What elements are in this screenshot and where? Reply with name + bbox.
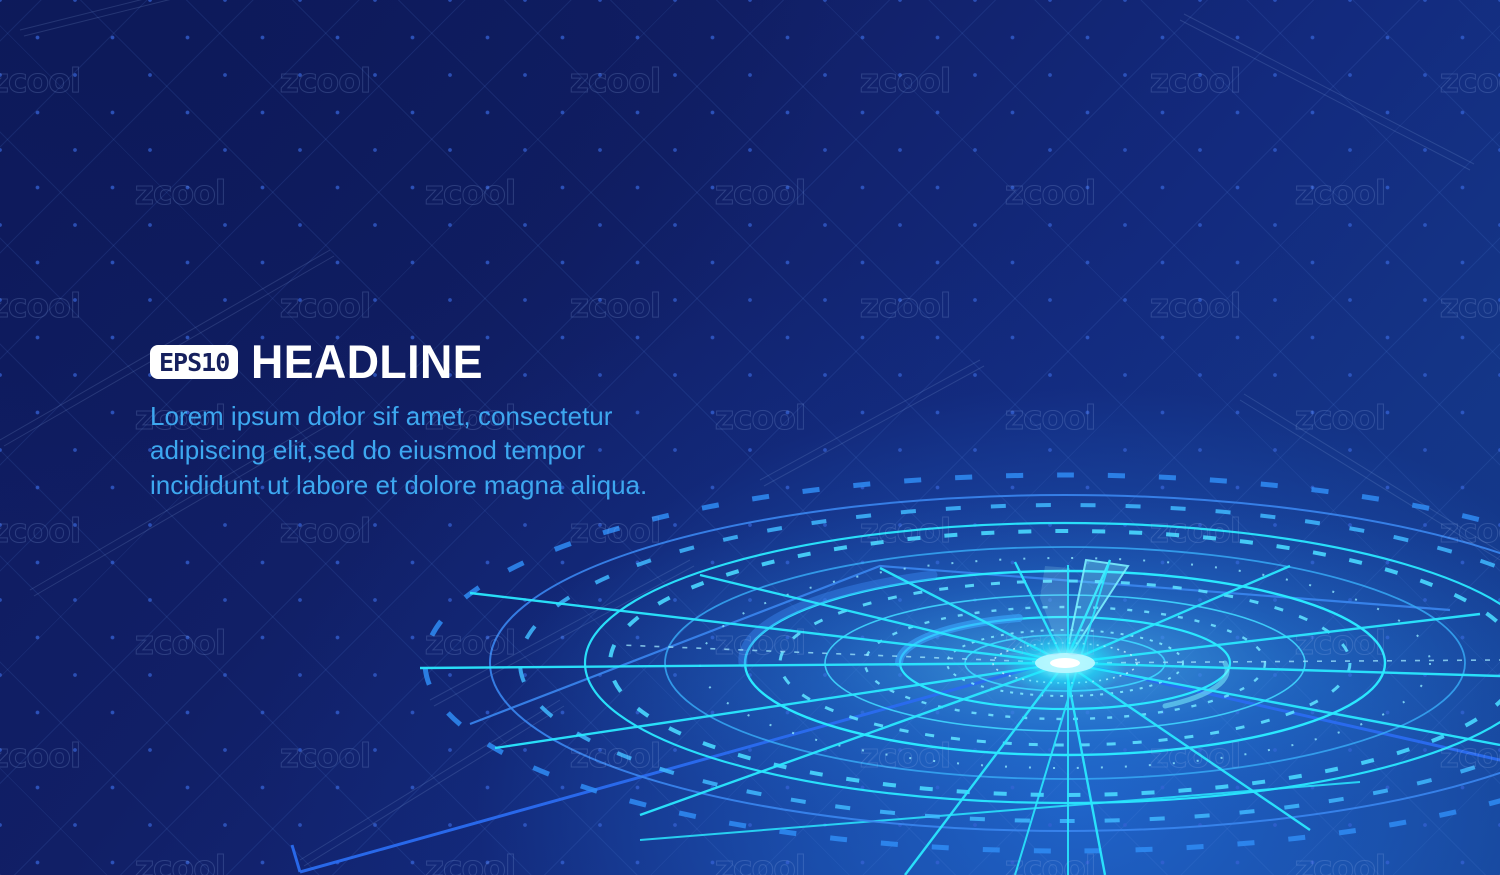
watermark-text: zcool	[250, 735, 400, 775]
eps10-badge: EPS10	[150, 345, 238, 379]
watermark-text: zcool	[250, 510, 400, 550]
watermark-text: zcool	[975, 172, 1125, 212]
watermark-text: zcool	[685, 622, 835, 662]
watermark-text: zcool	[540, 735, 690, 775]
watermark-text: zcool	[1265, 622, 1415, 662]
watermark-text: zcool	[0, 60, 110, 100]
watermark-text: zcool	[395, 172, 545, 212]
watermark-text: zcool	[975, 622, 1125, 662]
watermark-text: zcool	[1410, 285, 1500, 325]
watermark-text: zcool	[1410, 510, 1500, 550]
watermark-text: zcool	[1410, 735, 1500, 775]
watermark-text: zcool	[975, 397, 1125, 437]
watermark-text: zcool	[830, 510, 980, 550]
copy-block: EPS10 HEADLINE Lorem ipsum dolor sif ame…	[150, 338, 670, 502]
watermark-text: zcool	[105, 172, 255, 212]
page-title: HEADLINE	[251, 338, 483, 385]
watermark-text: zcool	[685, 397, 835, 437]
watermark-text: zcool	[1265, 397, 1415, 437]
watermark-text: zcool	[250, 60, 400, 100]
watermark-text: zcool	[105, 622, 255, 662]
watermark-text: zcool	[1120, 510, 1270, 550]
watermark-text: zcool	[540, 60, 690, 100]
watermark-text: zcool	[830, 60, 980, 100]
watermark-text: zcool	[1265, 847, 1415, 875]
watermark-text: zcool	[1410, 60, 1500, 100]
watermark-text: zcool	[1120, 60, 1270, 100]
watermark-text: zcool	[0, 285, 110, 325]
watermark-text: zcool	[395, 847, 545, 875]
watermark-text: zcool	[540, 285, 690, 325]
body-paragraph: Lorem ipsum dolor sif amet, consectetur …	[150, 399, 650, 502]
watermark-text: zcool	[1120, 285, 1270, 325]
watermark-text: zcool	[685, 847, 835, 875]
watermark-text: zcool	[540, 510, 690, 550]
watermark-text: zcool	[1120, 735, 1270, 775]
watermark-text: zcool	[685, 172, 835, 212]
headline-row: EPS10 HEADLINE	[150, 338, 670, 385]
watermark-text: zcool	[0, 510, 110, 550]
watermark-text: zcool	[395, 622, 545, 662]
watermark-text: zcool	[1265, 172, 1415, 212]
watermark-text: zcool	[0, 735, 110, 775]
tech-hud-banner: zcoolzcoolzcoolzcoolzcoolzcoolzcoolzcool…	[0, 0, 1500, 875]
watermark-text: zcool	[830, 735, 980, 775]
watermark-text: zcool	[250, 285, 400, 325]
watermark-text: zcool	[975, 847, 1125, 875]
watermark-text: zcool	[830, 285, 980, 325]
watermark-text: zcool	[105, 847, 255, 875]
